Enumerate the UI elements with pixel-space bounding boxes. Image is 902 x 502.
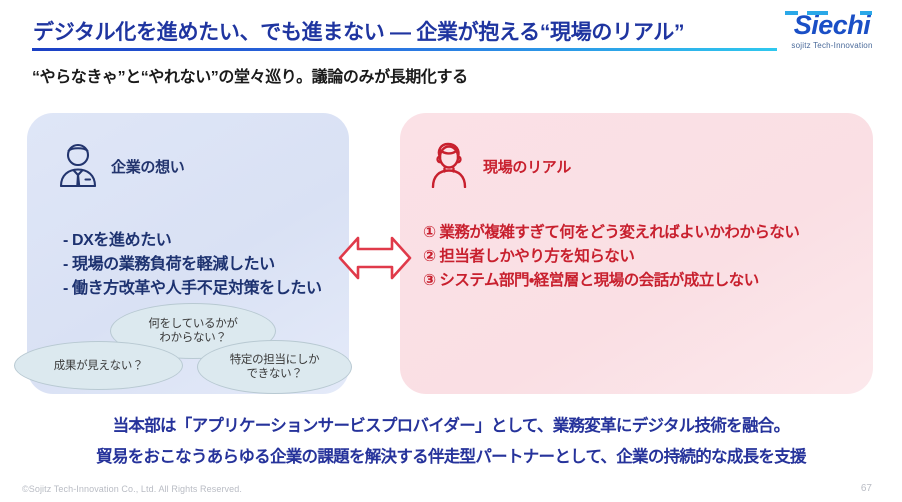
concern-bubble: 成果が見えない？ <box>14 341 183 390</box>
page-number: 67 <box>861 483 872 494</box>
list-item: - DXを進めたい <box>63 229 322 253</box>
list-item: ② 担当者しかやり方を知らない <box>423 245 799 269</box>
logo-accent-tick-3 <box>860 11 872 15</box>
panel-right-title: 現場のリアル <box>483 156 571 177</box>
businessman-icon <box>57 141 99 192</box>
logo-accent-tick-2 <box>807 11 828 15</box>
panel-left-header: 企業の想い <box>57 141 185 192</box>
field-worker-icon <box>427 140 471 193</box>
summary-line-2: 貿易をおこなうあらゆる企業の課題を解決する伴走型パートナーとして、企業の持続的な… <box>0 443 902 467</box>
logo-tagline: sojitz Tech-Innovation <box>776 41 888 50</box>
page-title: デジタル化を進めたい、でも進まない ― 企業が抱える“現場のリアル” <box>33 16 684 46</box>
logo-accent-tick-1 <box>785 11 798 15</box>
list-item: - 働き方改革や人手不足対策をしたい <box>63 277 322 301</box>
panel-field-reality: 現場のリアル ① 業務が複雑すぎて何をどう変えればよいかわからない ② 担当者し… <box>400 113 873 394</box>
double-arrow-icon <box>338 232 412 284</box>
panel-left-title: 企業の想い <box>111 156 185 177</box>
list-item: - 現場の業務負荷を軽減したい <box>63 253 322 277</box>
concern-bubble: 特定の担当にしかできない？ <box>197 340 352 394</box>
panel-right-header: 現場のリアル <box>427 140 571 193</box>
logo-wordmark: Siechi <box>776 10 888 40</box>
logo-wordmark-text: Siechi <box>794 10 871 40</box>
company-aspirations-list: - DXを進めたい - 現場の業務負荷を軽減したい - 働き方改革や人手不足対策… <box>63 229 322 301</box>
field-reality-list: ① 業務が複雑すぎて何をどう変えればよいかわからない ② 担当者しかやり方を知ら… <box>423 221 799 293</box>
company-logo: Siechi sojitz Tech-Innovation <box>776 10 888 50</box>
title-underline-rule <box>32 48 777 51</box>
concern-bubble-text: 特定の担当にしかできない？ <box>230 353 320 381</box>
slide-canvas: デジタル化を進めたい、でも進まない ― 企業が抱える“現場のリアル” “やらなき… <box>0 0 902 502</box>
page-subtitle: “やらなきゃ”と“やれない”の堂々巡り。議論のみが長期化する <box>32 63 468 87</box>
concern-bubble-text: 成果が見えない？ <box>54 359 144 373</box>
concern-bubble-text: 何をしているかがわからない？ <box>148 317 237 345</box>
copyright-notice: ©Sojitz Tech-Innovation Co., Ltd. All Ri… <box>22 484 242 494</box>
summary-line-1: 当本部は「アプリケーションサービスプロバイダー」として、業務変革にデジタル技術を… <box>0 412 902 436</box>
list-item: ③ システム部門・経営層と現場の会話が成立しない <box>423 269 799 293</box>
list-item: ① 業務が複雑すぎて何をどう変えればよいかわからない <box>423 221 799 245</box>
